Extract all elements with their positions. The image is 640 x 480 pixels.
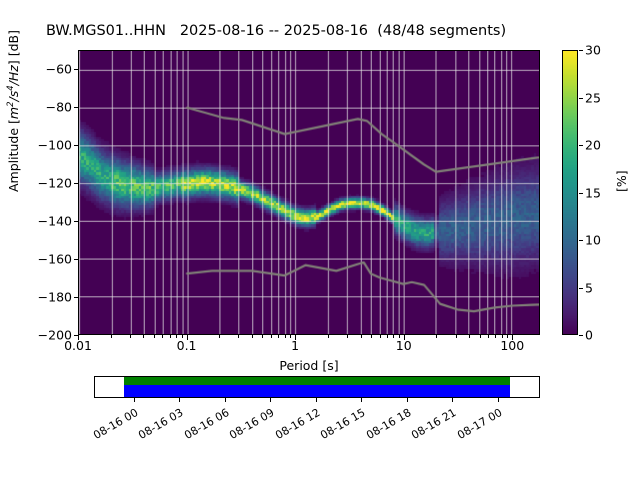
data-coverage-band bbox=[124, 385, 510, 397]
timeline-tick-label: 08-16 03 bbox=[131, 406, 186, 445]
ppsd-figure: BW.MGS01..HHN 2025-08-16 -- 2025-08-16 (… bbox=[0, 0, 640, 480]
colorbar-tick bbox=[579, 288, 583, 289]
y-axis-tick-label: −60 bbox=[26, 62, 72, 77]
y-axis-tick-label: −140 bbox=[26, 214, 72, 229]
colorbar-tick bbox=[579, 335, 583, 336]
x-axis-minor-tick bbox=[480, 335, 481, 338]
x-axis-minor-tick bbox=[347, 335, 348, 338]
x-axis-minor-tick bbox=[162, 335, 163, 338]
x-axis-minor-tick bbox=[371, 335, 372, 338]
y-axis-tick-label: −100 bbox=[26, 138, 72, 153]
colorbar-tick-label: 0 bbox=[585, 328, 593, 343]
y-axis-tick bbox=[74, 183, 78, 184]
timeline-tick bbox=[407, 398, 408, 402]
x-axis-tick-label: 100 bbox=[500, 338, 524, 353]
timeline-tick bbox=[498, 398, 499, 402]
x-axis-minor-tick bbox=[143, 335, 144, 338]
timeline-tick bbox=[316, 398, 317, 402]
x-axis-minor-tick bbox=[238, 335, 239, 338]
timeline-tick-label: 08-16 09 bbox=[222, 406, 277, 445]
colorbar-tick bbox=[579, 50, 583, 51]
y-axis-tick-label: −120 bbox=[26, 176, 72, 191]
colorbar-tick bbox=[579, 240, 583, 241]
colorbar-tick-label: 25 bbox=[585, 90, 601, 105]
y-axis-tick bbox=[74, 145, 78, 146]
y-axis-title-prefix: Amplitude [ bbox=[6, 119, 21, 192]
colorbar-tick-label: 5 bbox=[585, 280, 593, 295]
x-axis-minor-tick bbox=[271, 335, 272, 338]
x-axis-minor-tick bbox=[328, 335, 329, 338]
timeline-tick-label: 08-16 18 bbox=[358, 406, 413, 445]
x-axis-minor-tick bbox=[111, 335, 112, 338]
timeline-tick bbox=[361, 398, 362, 402]
timeline-tick bbox=[452, 398, 453, 402]
x-axis-minor-tick bbox=[380, 335, 381, 338]
timeline-tick-label: 08-17 00 bbox=[449, 406, 504, 445]
timeline-tick-label: 08-16 06 bbox=[176, 406, 231, 445]
y-axis-tick-label: −160 bbox=[26, 252, 72, 267]
x-axis-minor-tick bbox=[469, 335, 470, 338]
y-axis-tick bbox=[74, 69, 78, 70]
timeline-tick-label: 08-16 00 bbox=[85, 406, 140, 445]
x-axis-minor-tick bbox=[219, 335, 220, 338]
x-axis-minor-tick bbox=[436, 335, 437, 338]
timeline-tick-label: 08-16 15 bbox=[313, 406, 368, 445]
data-coverage-timeline[interactable] bbox=[94, 376, 540, 398]
x-axis-minor-tick bbox=[387, 335, 388, 338]
x-axis-minor-tick bbox=[252, 335, 253, 338]
colorbar-tick-label: 20 bbox=[585, 138, 601, 153]
x-axis-minor-tick bbox=[361, 335, 362, 338]
x-axis-minor-tick bbox=[393, 335, 394, 338]
x-axis-minor-tick bbox=[278, 335, 279, 338]
x-axis-title: Period [s] bbox=[279, 358, 338, 373]
peterson-noise-model-curves bbox=[79, 51, 539, 334]
x-axis-minor-tick bbox=[130, 335, 131, 338]
timeline-tick bbox=[225, 398, 226, 402]
colorbar-tick-label: 30 bbox=[585, 43, 601, 58]
timeline-tick bbox=[134, 398, 135, 402]
colorbar-gradient bbox=[563, 51, 578, 335]
timeline-tick bbox=[179, 398, 180, 402]
timeline-tick-label: 08-16 21 bbox=[404, 406, 459, 445]
y-axis-units: m2/s4/Hz bbox=[6, 65, 21, 119]
y-axis-tick-label: −80 bbox=[26, 100, 72, 115]
x-axis-minor-tick bbox=[285, 335, 286, 338]
x-axis-tick-label: 10 bbox=[396, 338, 412, 353]
x-axis-tick-label: 1 bbox=[291, 338, 299, 353]
colorbar-tick-label: 10 bbox=[585, 233, 601, 248]
colorbar-tick bbox=[579, 193, 583, 194]
y-axis-tick bbox=[74, 221, 78, 222]
ppsd-axes[interactable] bbox=[78, 50, 540, 335]
psd-coverage-band bbox=[124, 377, 510, 385]
y-axis-title: Amplitude [m2/s4/Hz] [dB] bbox=[6, 30, 21, 192]
y-axis-tick bbox=[74, 107, 78, 108]
x-axis-tick-label: 0.01 bbox=[64, 338, 92, 353]
y-axis-tick-label: −180 bbox=[26, 290, 72, 305]
colorbar-tick bbox=[579, 98, 583, 99]
x-axis-minor-tick bbox=[154, 335, 155, 338]
colorbar bbox=[562, 50, 578, 335]
colorbar-tick bbox=[579, 145, 583, 146]
page-title: BW.MGS01..HHN 2025-08-16 -- 2025-08-16 (… bbox=[46, 23, 506, 39]
y-axis-tick bbox=[74, 335, 78, 336]
x-axis-minor-tick bbox=[170, 335, 171, 338]
timeline-tick bbox=[270, 398, 271, 402]
x-axis-tick-label: 0.1 bbox=[177, 338, 197, 353]
y-axis-tick bbox=[74, 259, 78, 260]
y-axis-tick bbox=[74, 297, 78, 298]
x-axis-minor-tick bbox=[456, 335, 457, 338]
timeline-tick-label: 08-16 12 bbox=[267, 406, 322, 445]
x-axis-minor-tick bbox=[488, 335, 489, 338]
y-axis-title-suffix: ] [dB] bbox=[6, 30, 21, 65]
x-axis-minor-tick bbox=[495, 335, 496, 338]
x-axis-minor-tick bbox=[262, 335, 263, 338]
colorbar-title: [%] bbox=[614, 170, 629, 192]
colorbar-tick-label: 15 bbox=[585, 185, 601, 200]
